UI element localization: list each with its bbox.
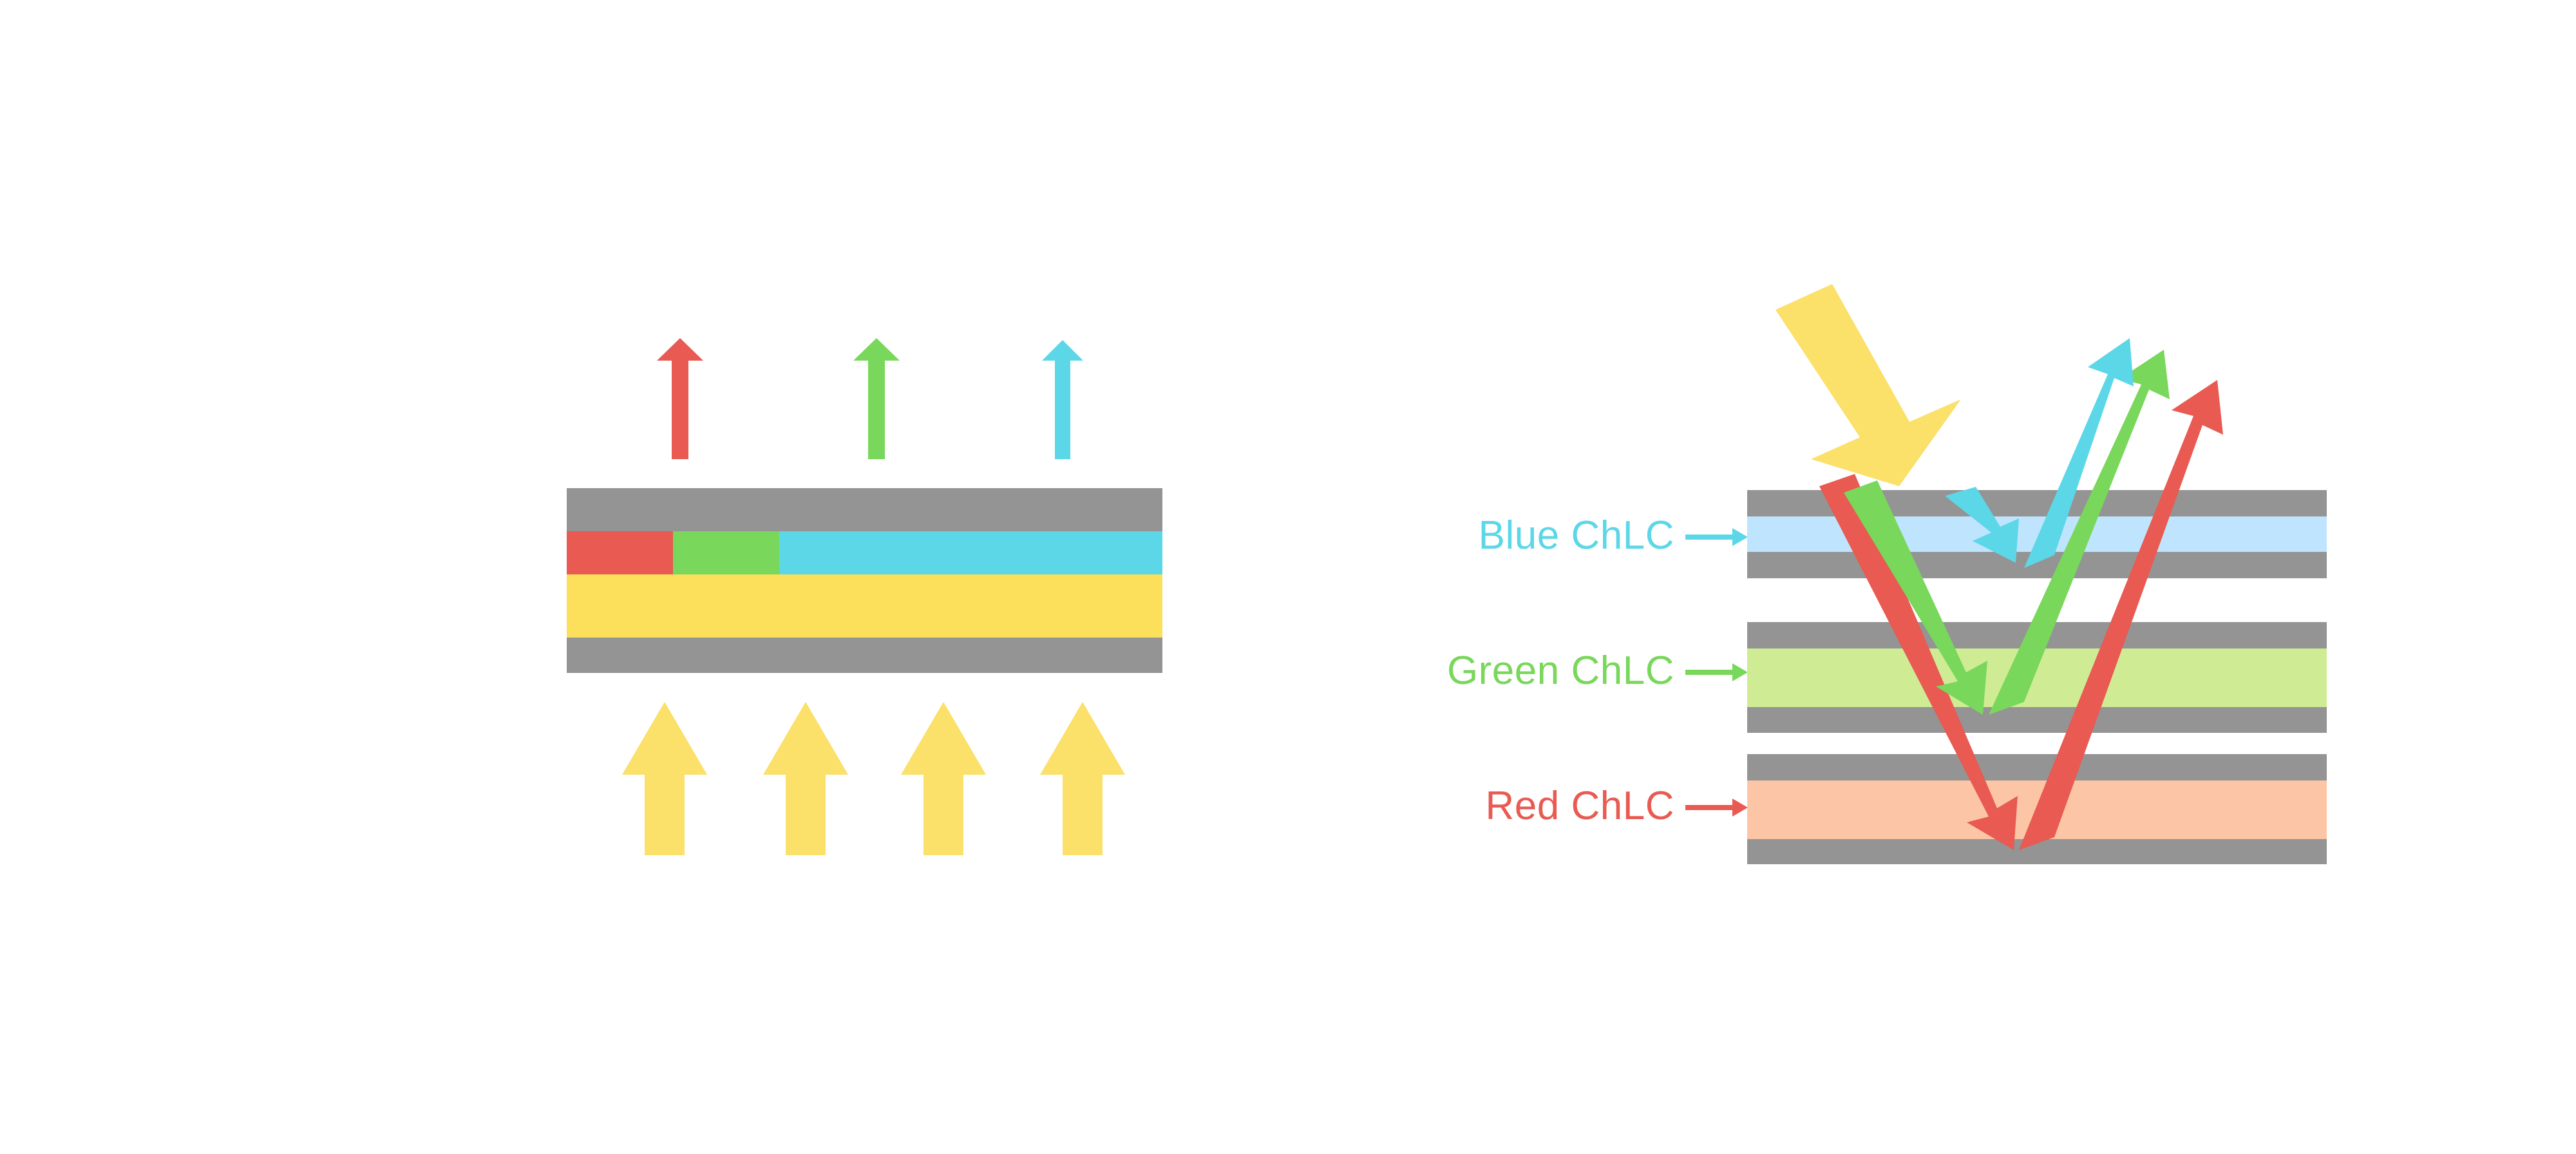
yellow-backlight-arrow-4 [1040,702,1125,855]
cyan-output-arrow [1042,340,1083,459]
green-cell-bottom-electrode [1747,707,2327,733]
yellow-backlight-arrow-3 [901,702,986,855]
blue-chlc-label-text: Blue ChLC [1479,513,1674,558]
green-filter-segment [673,531,779,574]
red-filter-segment [567,531,673,574]
green-chlc-leader-arrow [1685,663,1748,681]
top-gray-substrate [567,488,1162,531]
reflective-stack-panel: Blue ChLC Green ChLC Red ChLC [1447,284,2327,864]
chlc-stack-figure: Blue ChLC Green ChLC Red ChLC [0,0,2576,1154]
bottom-gray-substrate [567,638,1162,673]
yellow-backlight-arrow-1 [622,702,707,855]
yellow-backlight-layer [567,574,1162,638]
red-cell-top-electrode [1747,754,2327,780]
green-output-arrow [853,338,900,459]
red-chlc-label-text: Red ChLC [1486,784,1674,828]
emissive-stack-panel [567,338,1162,855]
red-output-arrow [657,338,703,459]
ambient-light-arrow [1776,284,1961,486]
green-chlc-label-text: Green ChLC [1447,648,1674,693]
diagram-canvas: Blue ChLC Green ChLC Red ChLC [0,0,2576,1154]
blue-chlc-leader-arrow [1685,528,1748,546]
red-chlc-leader-arrow [1685,799,1748,817]
yellow-backlight-arrow-2 [763,702,848,855]
cyan-filter-segment [779,531,1162,574]
